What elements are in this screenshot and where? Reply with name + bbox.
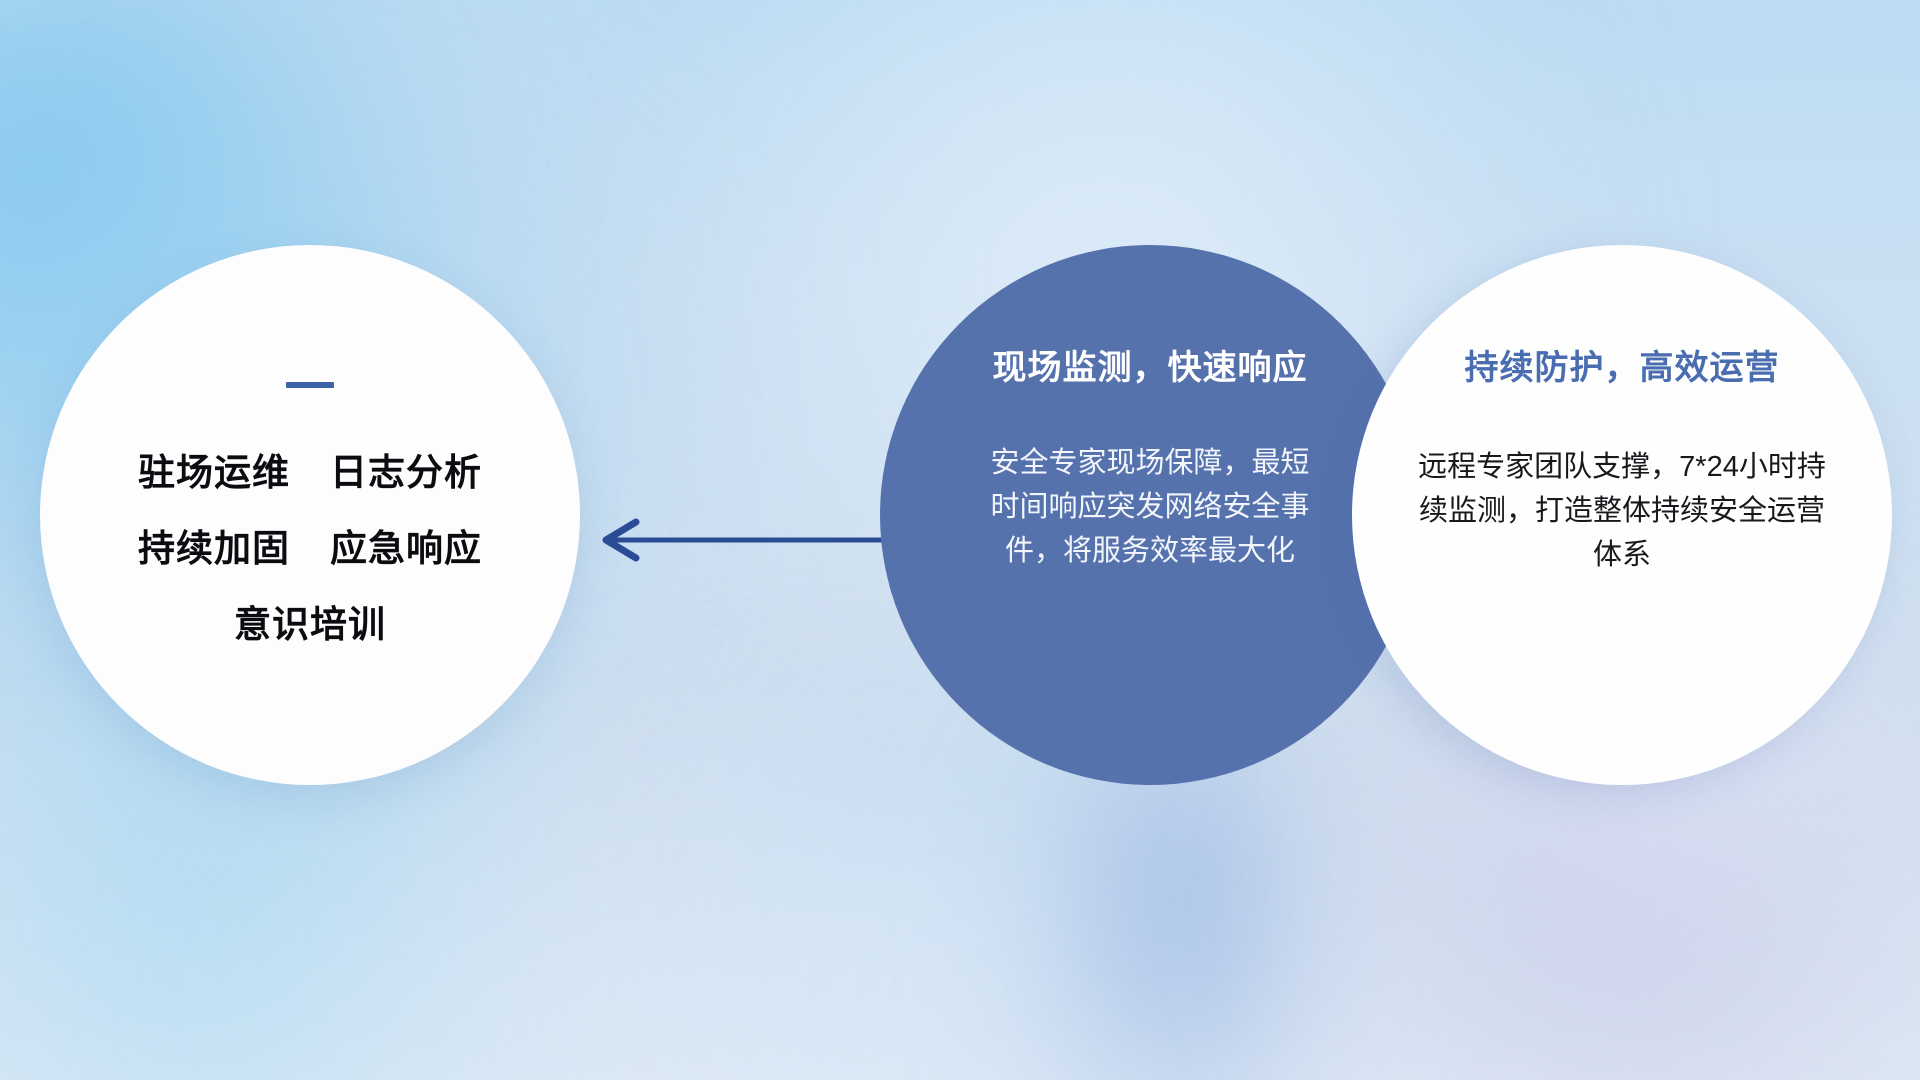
middle-onsite-circle[interactable]: 现场监测，快速响应 安全专家现场保障，最短时间响应突发网络安全事件，将服务效率最… <box>880 245 1420 785</box>
three-circle-diagram: 驻场运维 日志分析 持续加固 应急响应 意识培训 现场监测，快速响应 安全专家现… <box>0 0 1920 1080</box>
keyword-row: 持续加固 应急响应 <box>138 518 482 572</box>
keyword-row: 驻场运维 日志分析 <box>138 442 482 496</box>
keyword-item: 驻场运维 <box>138 442 290 496</box>
dash-divider-icon <box>286 382 334 388</box>
capability-keyword-list: 驻场运维 日志分析 持续加固 应急响应 意识培训 <box>138 442 482 648</box>
arrow-left-icon <box>590 510 900 570</box>
left-capability-circle[interactable]: 驻场运维 日志分析 持续加固 应急响应 意识培训 <box>40 245 580 785</box>
right-circle-title: 持续防护，高效运营 <box>1465 340 1780 389</box>
middle-circle-title: 现场监测，快速响应 <box>993 340 1308 389</box>
keyword-item: 应急响应 <box>330 518 482 572</box>
right-circle-body: 远程专家团队支撑，7*24小时持续监测，打造整体持续安全运营体系 <box>1412 445 1832 577</box>
right-operations-circle[interactable]: 持续防护，高效运营 远程专家团队支撑，7*24小时持续监测，打造整体持续安全运营… <box>1352 245 1892 785</box>
middle-circle-body: 安全专家现场保障，最短时间响应突发网络安全事件，将服务效率最大化 <box>985 441 1315 573</box>
middle-circle-content: 现场监测，快速响应 安全专家现场保障，最短时间响应突发网络安全事件，将服务效率最… <box>880 245 1420 785</box>
keyword-item: 持续加固 <box>138 518 290 572</box>
keyword-row: 意识培训 <box>234 594 386 648</box>
keyword-item: 意识培训 <box>234 594 386 648</box>
left-circle-content: 驻场运维 日志分析 持续加固 应急响应 意识培训 <box>40 245 580 785</box>
right-circle-content: 持续防护，高效运营 远程专家团队支撑，7*24小时持续监测，打造整体持续安全运营… <box>1352 245 1892 785</box>
keyword-item: 日志分析 <box>330 442 482 496</box>
